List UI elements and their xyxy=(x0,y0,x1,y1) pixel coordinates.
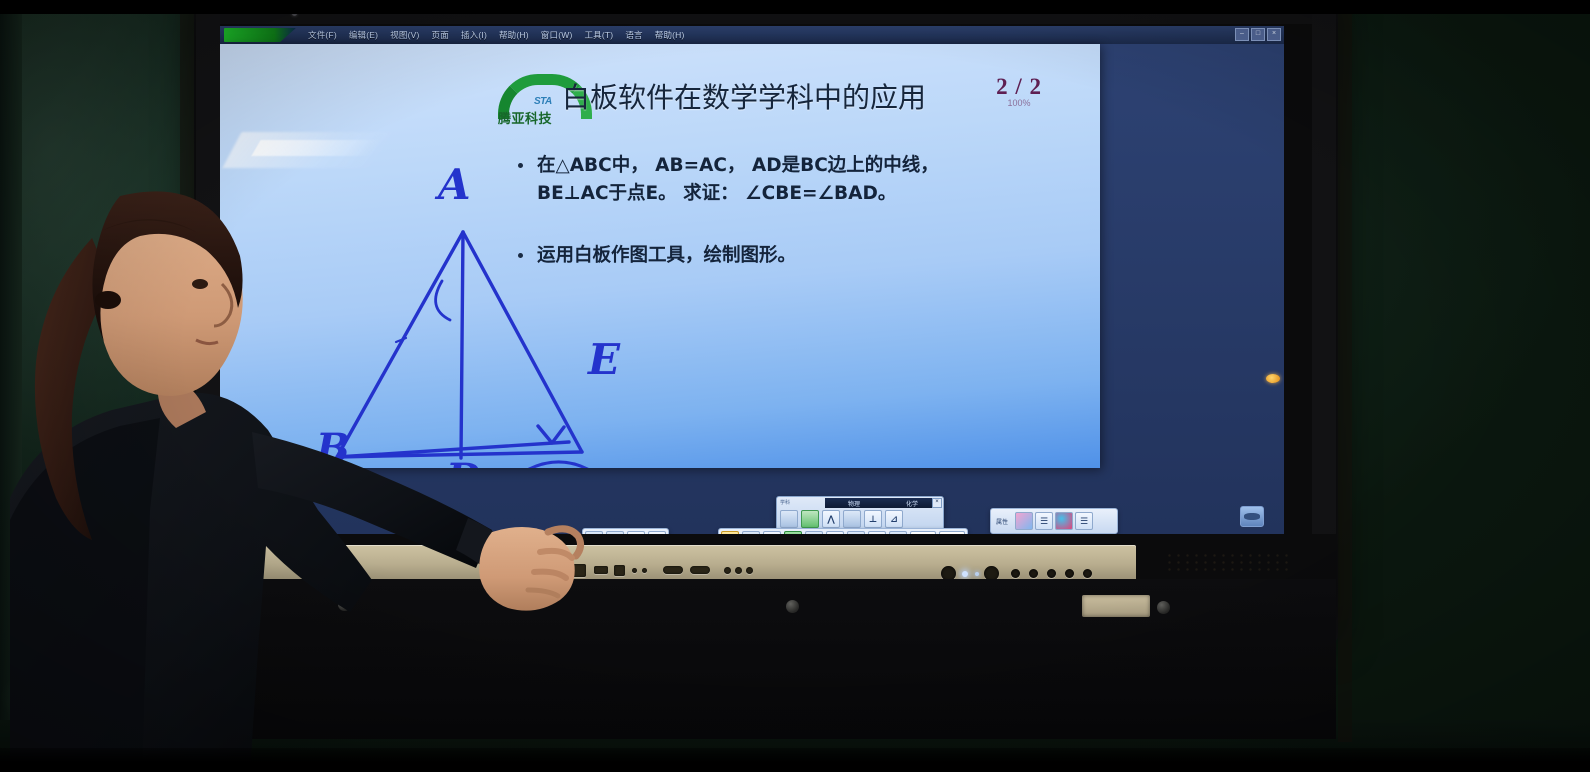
slide-icon[interactable] xyxy=(1015,512,1033,530)
source-button[interactable] xyxy=(1011,569,1020,578)
property-toolbar[interactable]: 属性 ☰ ☰ xyxy=(990,508,1118,534)
letterbox-bottom xyxy=(0,748,1590,772)
list-icon[interactable]: ☰ xyxy=(1075,512,1093,530)
menu-item-insert[interactable]: 插入(I) xyxy=(461,29,487,41)
tick-mark xyxy=(396,338,406,342)
bullet-item: 在△ABC中， AB=AC， AD是BC边上的中线， BE⊥AC于点E。 求证：… xyxy=(518,152,1088,208)
set-square-tool-icon[interactable]: ⊿ xyxy=(885,510,903,528)
slide-page[interactable]: STA 腾亚科技 白板软件在数学学科中的应用 2 / 2 100% 在△ABC中… xyxy=(220,44,1100,468)
status-led xyxy=(975,572,979,576)
tab-physics[interactable]: 物理 xyxy=(825,499,883,508)
speaker-grille-left xyxy=(118,552,238,572)
slide-canvas[interactable]: STA 腾亚科技 白板软件在数学学科中的应用 2 / 2 100% 在△ABC中… xyxy=(220,44,1284,534)
port-usb-2 xyxy=(614,565,625,576)
panel-left-bezel xyxy=(196,0,220,534)
vol-up-button[interactable] xyxy=(1047,569,1056,578)
body-vent-grille xyxy=(1082,595,1150,617)
port-rca-2 xyxy=(690,566,710,574)
maximize-button[interactable]: □ xyxy=(1251,28,1265,41)
shape-tool-icon[interactable] xyxy=(721,531,739,534)
menu-item-help2[interactable]: 帮助(H) xyxy=(655,29,685,41)
blackboard-left-frame xyxy=(0,0,22,772)
port-av-1 xyxy=(724,567,731,574)
zoom-in-icon[interactable]: ⚲ xyxy=(627,531,645,534)
right-angle-mark xyxy=(538,426,564,443)
freeze-button[interactable] xyxy=(1083,569,1092,578)
menu-item-edit[interactable]: 编辑(E) xyxy=(349,29,378,41)
curve-tool-icon[interactable] xyxy=(805,531,823,534)
speaker-grille-right xyxy=(1165,552,1290,572)
panel-right-bezel xyxy=(1312,0,1336,534)
port-hdmi xyxy=(572,564,586,577)
page-tool-icon[interactable] xyxy=(889,531,907,534)
rect-tool-icon[interactable]: ▭ xyxy=(826,531,844,534)
segment-be xyxy=(337,442,569,457)
slide-bullets: 在△ABC中， AB=AC， AD是BC边上的中线， BE⊥AC于点E。 求证：… xyxy=(518,152,1088,303)
arc-near-c xyxy=(520,462,602,468)
undo-icon[interactable] xyxy=(585,531,603,534)
bullet-line: BE⊥AC于点E。 求证： ∠CBE=∠BAD。 xyxy=(537,180,939,208)
panel-titlebar: 物理 化学 xyxy=(825,498,941,508)
median-ad xyxy=(461,232,463,458)
minimize-button[interactable]: – xyxy=(1235,28,1249,41)
menu-item-view[interactable]: 视图(V) xyxy=(390,29,419,41)
body-screw-right xyxy=(1157,601,1170,614)
bullet-dot-icon xyxy=(518,253,523,258)
port-rca-1 xyxy=(663,566,683,574)
eraser-tool-icon[interactable]: ◣ xyxy=(868,531,886,534)
slide-title: 白板软件在数学学科中的应用 xyxy=(562,76,926,116)
close-button[interactable]: × xyxy=(1267,28,1281,41)
page-number: 2 / 2 xyxy=(996,74,1042,100)
screen-glare-streak xyxy=(251,140,380,156)
menu-item-page[interactable]: 页面 xyxy=(432,29,449,41)
menu-item-window[interactable]: 窗口(W) xyxy=(541,29,573,41)
page-edge-marker-icon[interactable] xyxy=(1266,374,1280,383)
main-toolbar[interactable]: ➤ ▭ ◣ ◎ T ☻ xyxy=(718,528,968,534)
lines-icon[interactable]: ☰ xyxy=(1035,512,1053,530)
vertex-label-a: A xyxy=(434,160,471,209)
angle-arc-a xyxy=(436,281,450,320)
line-thin-swatch[interactable] xyxy=(910,531,936,534)
property-toolbar-label: 属性 xyxy=(996,517,1008,526)
note-widget-icon[interactable] xyxy=(1240,506,1264,527)
vol-down-button[interactable] xyxy=(1029,569,1038,578)
logo-sta-text: STA xyxy=(534,96,552,107)
port-av-2 xyxy=(735,567,742,574)
logo-brand-text: 腾亚科技 xyxy=(498,108,552,127)
line-thick-swatch[interactable] xyxy=(939,531,965,534)
window-controls: – □ × xyxy=(1235,28,1281,41)
left-toolbar-row-1: ⚲ e xyxy=(585,531,666,534)
home-button[interactable] xyxy=(1065,569,1074,578)
classroom-scene: 文件(F) 编辑(E) 视图(V) 页面 插入(I) 帮助(H) 窗口(W) 工… xyxy=(0,0,1590,772)
geometry-tool-row: ⋀ ⊥ ⊿ xyxy=(780,510,903,528)
bullet-text: 在△ABC中， AB=AC， AD是BC边上的中线， BE⊥AC于点E。 求证：… xyxy=(537,152,939,208)
menu-item-tools[interactable]: 工具(T) xyxy=(584,29,613,41)
bullet-dot-icon xyxy=(518,163,523,168)
app-logo-icon xyxy=(224,28,296,42)
app-menubar: 文件(F) 编辑(E) 视图(V) 页面 插入(I) 帮助(H) 窗口(W) 工… xyxy=(220,26,1284,44)
panel-close-icon[interactable]: × xyxy=(932,498,942,508)
highlighter-tool-icon[interactable] xyxy=(801,510,819,528)
page-indicator: 2 / 2 100% xyxy=(996,74,1042,108)
port-usb-1 xyxy=(594,566,608,574)
port-vga xyxy=(545,566,567,575)
bullet-line: 在△ABC中， AB=AC， AD是BC边上的中线， xyxy=(537,152,939,180)
protractor-tool-icon[interactable]: ⊥ xyxy=(864,510,882,528)
vertex-label-b: B xyxy=(315,425,350,468)
panel-header-label: 学科 xyxy=(780,499,790,506)
power-led xyxy=(962,571,968,577)
redo-icon[interactable] xyxy=(606,531,624,534)
erase-icon[interactable]: e xyxy=(648,531,666,534)
body-screw-left xyxy=(338,598,351,611)
port-audio-in xyxy=(632,568,637,573)
port-av-3 xyxy=(746,567,753,574)
menu-item-file[interactable]: 文件(F) xyxy=(308,29,337,41)
menu-item-language[interactable]: 语言 xyxy=(625,29,642,41)
spotlight-tool-icon[interactable] xyxy=(847,531,865,534)
vertex-label-e: E xyxy=(587,335,621,384)
letterbox-top xyxy=(0,0,1590,14)
pen-tool-icon[interactable] xyxy=(780,510,798,528)
body-screw-center xyxy=(786,600,799,613)
color-wheel-icon[interactable] xyxy=(1055,512,1073,530)
bullet-item: 运用白板作图工具，绘制图形。 xyxy=(518,242,1088,270)
compass-tool-icon[interactable]: ⋀ xyxy=(822,510,840,528)
arrow-tool-icon[interactable]: ➤ xyxy=(763,531,781,534)
port-audio-out xyxy=(642,568,647,573)
bullet-text: 运用白板作图工具，绘制图形。 xyxy=(537,242,796,270)
bullet-line: 运用白板作图工具，绘制图形。 xyxy=(537,242,796,270)
menu-item-help[interactable]: 帮助(H) xyxy=(499,29,529,41)
stamp-tool-icon[interactable] xyxy=(742,531,760,534)
left-toolbar[interactable]: ⚲ e xyxy=(582,528,669,534)
main-toolbar-row-1: ➤ ▭ ◣ xyxy=(721,531,965,534)
select-tool-icon[interactable] xyxy=(784,531,802,534)
vertex-label-d: D xyxy=(445,455,481,468)
panel-screen: 文件(F) 编辑(E) 视图(V) 页面 插入(I) 帮助(H) 窗口(W) 工… xyxy=(220,26,1284,534)
ruler-tool-icon[interactable] xyxy=(843,510,861,528)
